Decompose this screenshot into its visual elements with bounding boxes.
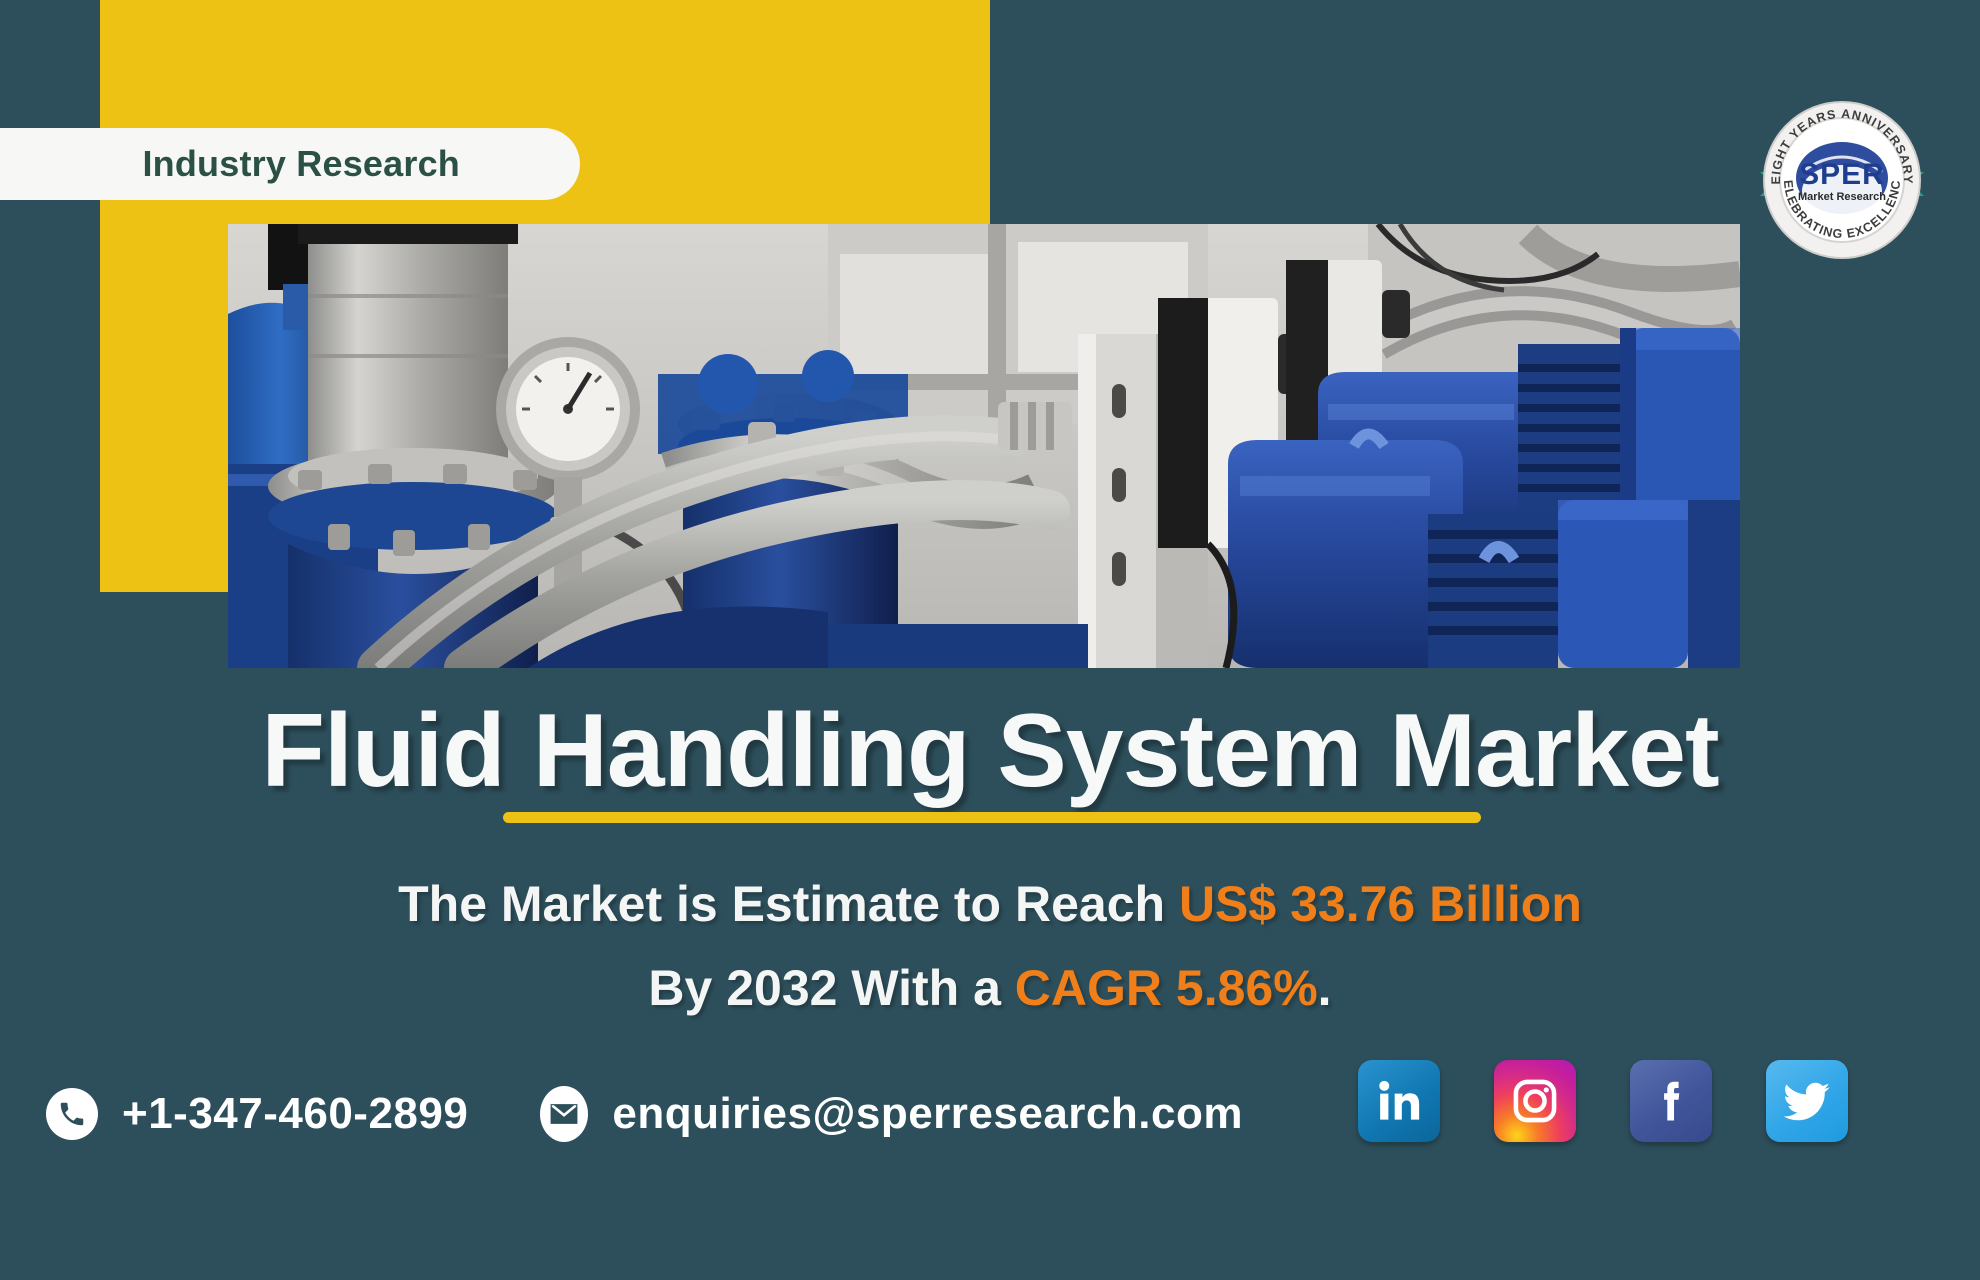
email-contact[interactable]: enquiries@sperresearch.com <box>540 1086 1243 1142</box>
sper-anniversary-badge: 2015 2023 EIGHT YEARS ANNIVERSARY CELEBR… <box>1758 96 1926 264</box>
subtitle-line-2: By 2032 With a CAGR 5.86%. <box>0 946 1980 1030</box>
svg-text:SPER: SPER <box>1799 158 1885 191</box>
phone-contact[interactable]: +1-347-460-2899 <box>46 1088 468 1140</box>
industry-research-pill: Industry Research <box>0 128 580 200</box>
envelope-icon <box>540 1086 588 1142</box>
svg-text:®: ® <box>1882 151 1890 163</box>
pump-station-illustration <box>228 224 1740 668</box>
email-address: enquiries@sperresearch.com <box>612 1089 1243 1139</box>
phone-icon <box>46 1088 98 1140</box>
social-links <box>1358 1060 1848 1142</box>
instagram-icon[interactable] <box>1494 1060 1576 1142</box>
facebook-icon[interactable] <box>1630 1060 1712 1142</box>
subtitle-block: The Market is Estimate to Reach US$ 33.7… <box>0 862 1980 1030</box>
svg-text:Market Research: Market Research <box>1798 191 1886 203</box>
subtitle-line2-pre: By 2032 With a <box>648 960 1014 1016</box>
linkedin-icon[interactable] <box>1358 1060 1440 1142</box>
cagr-highlight: CAGR 5.86% <box>1015 960 1318 1016</box>
twitter-icon[interactable] <box>1766 1060 1848 1142</box>
market-value-highlight: US$ 33.76 Billion <box>1179 876 1582 932</box>
page-title: Fluid Handling System Market <box>0 692 1980 811</box>
subtitle-line-1: The Market is Estimate to Reach US$ 33.7… <box>0 862 1980 946</box>
subtitle-line2-post: . <box>1318 960 1332 1016</box>
hero-photo <box>228 224 1740 668</box>
subtitle-line1-pre: The Market is Estimate to Reach <box>398 876 1179 932</box>
poster-canvas: Industry Research <box>0 0 1980 1280</box>
industry-research-label: Industry Research <box>142 143 460 185</box>
title-underline <box>503 812 1481 823</box>
phone-number: +1-347-460-2899 <box>122 1089 468 1139</box>
